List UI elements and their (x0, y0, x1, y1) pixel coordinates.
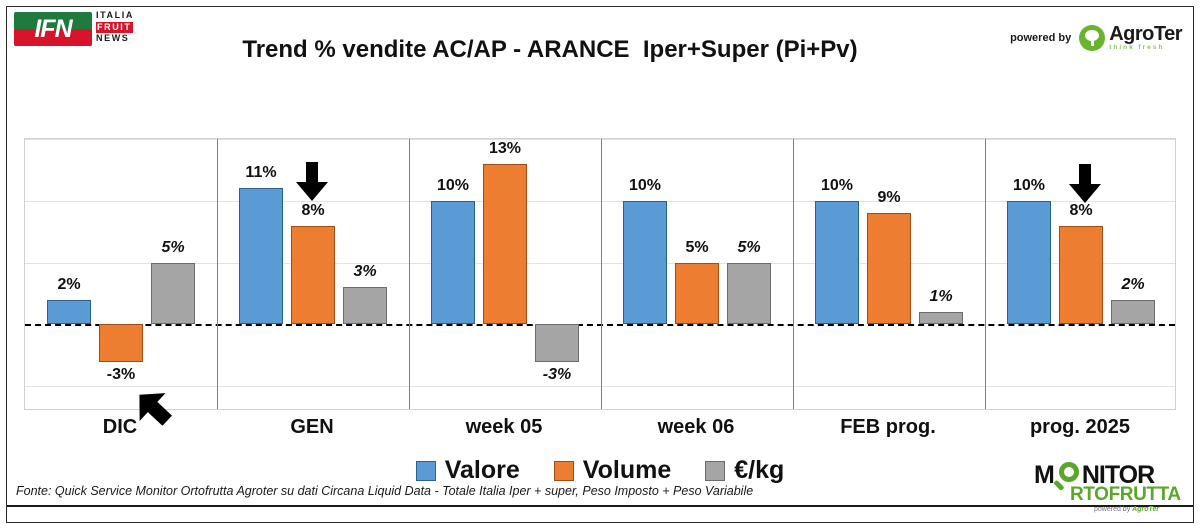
bar-value-label: 5% (713, 239, 785, 257)
ifn-logo-wordmark: ITALIA FRUIT NEWS (96, 10, 142, 45)
annotation-arrow-up-left-dic (132, 386, 176, 428)
bar-value-label: 10% (417, 177, 489, 195)
chart-legend: ValoreVolume€/kg (0, 456, 1200, 485)
magnifier-icon (1055, 462, 1081, 488)
category-separator (985, 139, 986, 409)
bar-value-label: 1% (905, 288, 977, 306)
bar-value-label: 10% (993, 177, 1065, 195)
bar-value-label: 11% (225, 164, 297, 182)
bar-dic--kg[interactable] (151, 263, 195, 325)
source-note: Fonte: Quick Service Monitor Ortofrutta … (16, 484, 753, 498)
agroter-logo: AgroTer think fresh (1079, 24, 1182, 52)
bar-gen--kg[interactable] (343, 287, 387, 324)
monitor-logo-powered: powered by AgroTer (1034, 506, 1184, 513)
bar-value-label: 13% (469, 140, 541, 158)
legend-item-volume[interactable]: Volume (554, 456, 671, 485)
powered-by-label: powered by (1010, 32, 1071, 44)
zero-line (25, 324, 1175, 326)
bar-dic-volume[interactable] (99, 324, 143, 361)
legend-label: Valore (445, 456, 520, 485)
ifn-logo-line1: ITALIA (96, 10, 142, 22)
gridline (25, 263, 1175, 264)
legend-swatch-icon (554, 461, 574, 481)
bar-value-label: -3% (521, 366, 593, 384)
ifn-logo: IFN ITALIA FRUIT NEWS (14, 8, 140, 50)
legend-item--kg[interactable]: €/kg (705, 456, 784, 485)
ifn-logo-initials: IFN (14, 12, 92, 46)
legend-label: Volume (583, 456, 671, 485)
bar-week-05-valore[interactable] (431, 201, 475, 325)
agroter-tagline: think fresh (1109, 45, 1182, 52)
category-separator (217, 139, 218, 409)
ifn-logo-line3: NEWS (96, 33, 142, 45)
ifn-logo-mark: IFN (14, 12, 92, 46)
bar-dic-valore[interactable] (47, 300, 91, 325)
bar-value-label: 9% (853, 189, 925, 207)
category-label-week-05: week 05 (408, 416, 600, 439)
agroter-name: AgroTer (1109, 24, 1182, 44)
monitor-powered-brand: AgroTer (1132, 506, 1159, 513)
category-label-week-06: week 06 (600, 416, 792, 439)
bar-value-label: 5% (137, 239, 209, 257)
bar-value-label: 2% (1097, 276, 1169, 294)
bar-value-label: 2% (33, 276, 105, 294)
bar-value-label: 8% (1045, 202, 1117, 220)
legend-item-valore[interactable]: Valore (416, 456, 520, 485)
bar-week-05-volume[interactable] (483, 164, 527, 325)
chart-plot-area: 2%-3%5%11%8%3%10%13%-3%10%5%5%10%9%1%10%… (24, 138, 1176, 410)
annotation-arrow-down-prog2025 (1068, 164, 1102, 204)
bar-feb-prog--valore[interactable] (815, 201, 859, 325)
bar-feb-prog---kg[interactable] (919, 312, 963, 324)
bar-value-label: 8% (277, 202, 349, 220)
gridline (25, 139, 1175, 140)
category-label-prog-2025: prog. 2025 (984, 416, 1176, 439)
monitor-logo-m: M (1034, 461, 1054, 490)
monitor-powered-label: powered by (1094, 506, 1132, 513)
bar-value-label: 3% (329, 263, 401, 281)
legend-label: €/kg (734, 456, 784, 485)
bar-prog-2025--kg[interactable] (1111, 300, 1155, 325)
chart-title: Trend % vendite AC/AP - ARANCE Iper+Supe… (180, 36, 920, 64)
legend-swatch-icon (416, 461, 436, 481)
category-label-feb-prog-: FEB prog. (792, 416, 984, 439)
category-separator (793, 139, 794, 409)
monitor-ortofrutta-logo: M NITOR RTOFRUTTA powered by AgroTer (1034, 462, 1184, 506)
category-label-dic: DIC (24, 416, 216, 439)
annotation-arrow-down-gen (295, 162, 329, 202)
category-separator (409, 139, 410, 409)
bar-value-label: -3% (85, 366, 157, 384)
monitor-logo-nitor: NITOR (1082, 461, 1154, 490)
legend-swatch-icon (705, 461, 725, 481)
bar-week-06--kg[interactable] (727, 263, 771, 325)
tree-icon (1079, 25, 1105, 51)
chart-slide: IFN ITALIA FRUIT NEWS Trend % vendite AC… (0, 0, 1200, 529)
bar-week-06-valore[interactable] (623, 201, 667, 325)
category-label-gen: GEN (216, 416, 408, 439)
gridline (25, 386, 1175, 387)
bar-week-05--kg[interactable] (535, 324, 579, 361)
category-separator (601, 139, 602, 409)
footer-divider (7, 505, 1193, 507)
ifn-logo-line2: FRUIT (96, 22, 133, 34)
bar-feb-prog--volume[interactable] (867, 213, 911, 324)
gridline (25, 201, 1175, 202)
bar-week-06-volume[interactable] (675, 263, 719, 325)
bar-value-label: 10% (609, 177, 681, 195)
powered-by-block: powered by AgroTer think fresh (1010, 18, 1182, 58)
